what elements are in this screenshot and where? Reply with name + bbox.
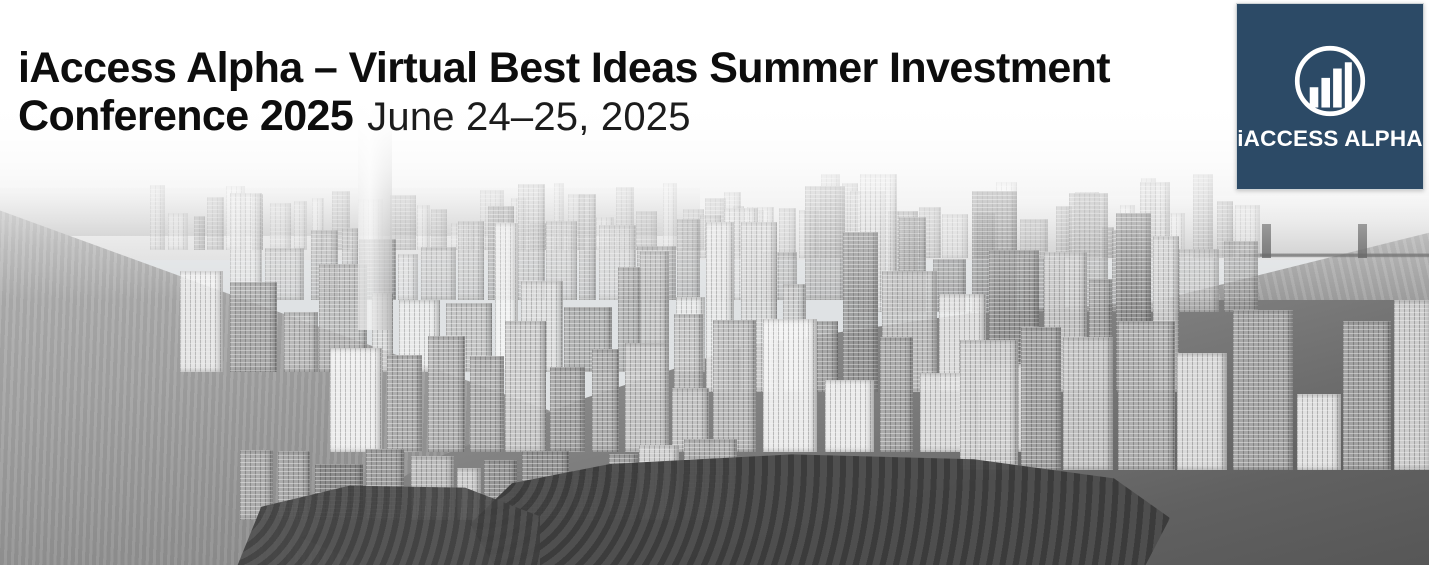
logo-wordmark: iACCESS ALPHA [1237,126,1423,152]
conference-banner: iAccess Alpha – Virtual Best Ideas Summe… [0,0,1429,565]
building [505,321,545,452]
building [579,194,595,300]
building [1193,174,1213,258]
building [592,349,618,452]
building [1394,300,1429,470]
building [458,221,484,300]
building [431,209,447,250]
building [270,203,291,250]
building [398,254,418,300]
iaccess-alpha-logo[interactable]: iACCESS ALPHA [1236,3,1424,190]
banner-title-line-1: iAccess Alpha – Virtual Best Ideas Summe… [18,44,1110,92]
building [421,247,456,300]
building [1063,337,1113,470]
building [674,314,703,392]
building [387,355,422,452]
building [713,320,756,452]
building [180,271,223,372]
building [168,213,188,250]
building [1343,321,1391,470]
bar-chart-in-circle-icon [1291,42,1369,120]
building [1297,394,1341,470]
building [284,312,318,372]
building [825,380,875,452]
building [150,185,165,250]
building [843,232,878,392]
building [1177,353,1227,470]
building [1021,327,1061,470]
building [1233,310,1293,470]
building [763,319,817,452]
building [805,186,845,300]
building [330,348,382,452]
building [779,208,797,258]
building [207,197,224,250]
building [428,336,465,452]
building [470,356,504,452]
building [663,183,677,250]
building [550,367,585,452]
building [942,214,969,258]
building [677,219,700,300]
building [1174,249,1219,312]
banner-title-line-2-text: Conference 2025 [18,92,353,140]
building [1224,241,1258,312]
building [194,216,204,250]
building [636,211,657,250]
building [294,201,307,250]
banner-title-line-2: Conference 2025June 24–25, 2025 [18,92,1110,140]
building [230,282,276,372]
building [417,205,430,250]
building [625,343,669,452]
building [960,340,1018,470]
building [1118,321,1175,470]
building [880,337,912,452]
brooklyn-bridge [1240,240,1429,274]
banner-date: June 24–25, 2025 [367,95,691,139]
banner-heading: iAccess Alpha – Virtual Best Ideas Summe… [18,44,1110,140]
